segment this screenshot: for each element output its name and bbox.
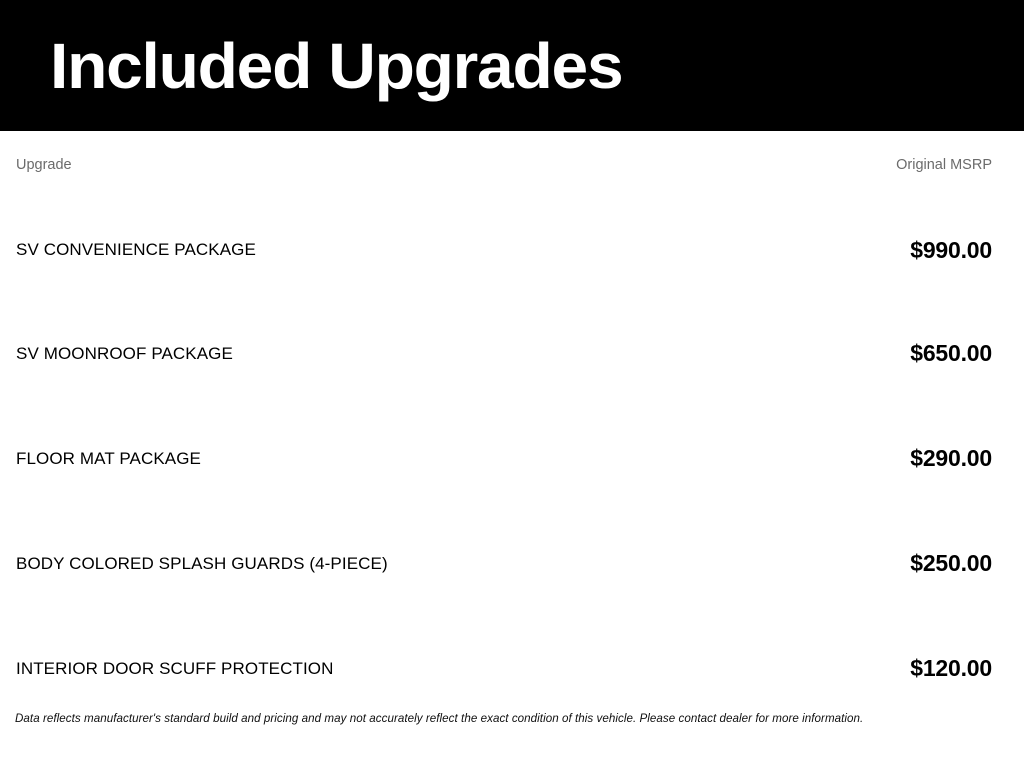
page-header-banner: Included Upgrades (0, 0, 1024, 131)
column-header-upgrade: Upgrade (15, 131, 621, 199)
upgrade-name: BODY COLORED SPLASH GUARDS (4-PIECE) (15, 511, 621, 616)
included-upgrades-page: Included Upgrades Upgrade Original MSRP … (0, 0, 1024, 768)
upgrades-content: Upgrade Original MSRP SV CONVENIENCE PAC… (0, 131, 1024, 768)
table-body: SV CONVENIENCE PACKAGE $990.00 SV MOONRO… (15, 199, 992, 721)
table-row: SV CONVENIENCE PACKAGE $990.00 (15, 199, 992, 301)
table-row: SV MOONROOF PACKAGE $650.00 (15, 301, 992, 406)
table-head: Upgrade Original MSRP (15, 131, 992, 199)
upgrade-name: SV MOONROOF PACKAGE (15, 301, 621, 406)
upgrades-table: Upgrade Original MSRP SV CONVENIENCE PAC… (15, 131, 992, 721)
disclaimer-text: Data reflects manufacturer's standard bu… (15, 712, 992, 726)
page-title: Included Upgrades (50, 34, 622, 98)
upgrade-name: FLOOR MAT PACKAGE (15, 406, 621, 511)
upgrade-name: INTERIOR DOOR SCUFF PROTECTION (15, 616, 621, 721)
upgrade-price: $650.00 (621, 301, 992, 406)
table-row: BODY COLORED SPLASH GUARDS (4-PIECE) $25… (15, 511, 992, 616)
upgrade-name: SV CONVENIENCE PACKAGE (15, 199, 621, 301)
table-row: INTERIOR DOOR SCUFF PROTECTION $120.00 (15, 616, 992, 721)
upgrade-price: $290.00 (621, 406, 992, 511)
table-row: FLOOR MAT PACKAGE $290.00 (15, 406, 992, 511)
upgrade-price: $250.00 (621, 511, 992, 616)
upgrade-price: $120.00 (621, 616, 992, 721)
table-header-row: Upgrade Original MSRP (15, 131, 992, 199)
column-header-original-msrp: Original MSRP (621, 131, 992, 199)
upgrade-price: $990.00 (621, 199, 992, 301)
